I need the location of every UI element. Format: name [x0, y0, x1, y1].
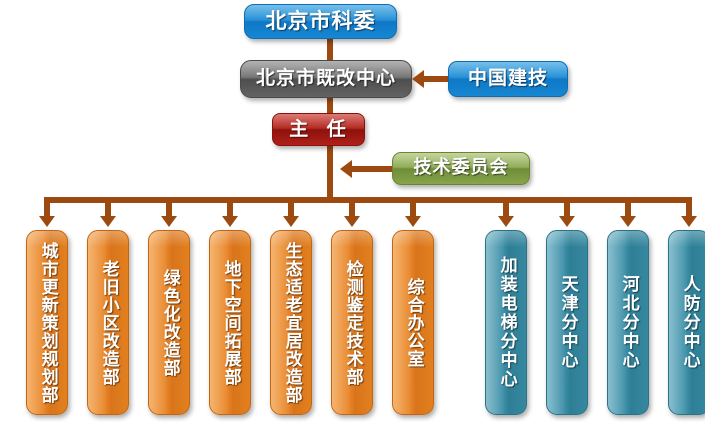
department-node-9[interactable]: 天津分中心 — [546, 230, 588, 415]
department-node-label: 城市更新策划规划部 — [38, 238, 55, 408]
department-node-10[interactable]: 河北分中心 — [607, 230, 649, 415]
department-drop-line-9 — [564, 203, 570, 216]
department-arrow-3 — [161, 216, 177, 227]
department-drop-line-7 — [410, 203, 416, 216]
node-center-organization[interactable]: 北京市既改中心 — [240, 60, 412, 98]
department-arrow-9 — [559, 216, 575, 227]
connector-director-to-bus — [327, 145, 333, 203]
department-drop-line-2 — [105, 203, 111, 216]
department-node-3[interactable]: 绿色化改造部 — [148, 230, 190, 415]
arrow-partner-to-center — [412, 70, 424, 88]
department-arrow-1 — [39, 216, 55, 227]
node-technical-committee[interactable]: 技术委员会 — [392, 152, 530, 185]
connector-committee-to-trunk — [352, 166, 394, 172]
node-director-label: 主 任 — [283, 120, 354, 140]
department-drop-line-11 — [686, 203, 692, 216]
org-chart-canvas: 北京市科委 北京市既改中心 中国建技 主 任 技术委员会 城市更新策划规划部老旧… — [0, 0, 705, 436]
node-top-authority-label: 北京市科委 — [264, 11, 378, 33]
connector-department-bus — [44, 197, 692, 203]
department-drop-line-5 — [288, 203, 294, 216]
department-node-1[interactable]: 城市更新策划规划部 — [26, 230, 68, 415]
department-drop-line-1 — [44, 203, 50, 216]
department-drop-line-6 — [349, 203, 355, 216]
department-arrow-4 — [222, 216, 238, 227]
department-node-4[interactable]: 地下空间拓展部 — [209, 230, 251, 415]
department-node-8[interactable]: 加装电梯分中心 — [485, 230, 527, 415]
department-drop-line-8 — [503, 203, 509, 216]
node-technical-committee-label: 技术委员会 — [412, 159, 511, 178]
department-node-6[interactable]: 检测鉴定技术部 — [331, 230, 373, 415]
department-arrow-8 — [498, 216, 514, 227]
department-arrow-6 — [344, 216, 360, 227]
department-drop-line-4 — [227, 203, 233, 216]
department-node-label: 天津分中心 — [558, 271, 575, 374]
department-drop-line-3 — [166, 203, 172, 216]
connector-partner-to-center — [424, 76, 450, 82]
department-drop-line-10 — [625, 203, 631, 216]
node-partner-organization[interactable]: 中国建技 — [448, 61, 568, 97]
department-arrow-11 — [681, 216, 697, 227]
department-arrow-2 — [100, 216, 116, 227]
connector-top-to-center — [327, 38, 333, 61]
department-node-label: 老旧小区改造部 — [99, 256, 116, 390]
department-node-label: 人防分中心 — [680, 271, 697, 374]
department-node-5[interactable]: 生态适老宜居改造部 — [270, 230, 312, 415]
department-node-label: 绿色化改造部 — [160, 265, 177, 381]
node-partner-organization-label: 中国建技 — [466, 69, 550, 89]
connector-center-to-director — [327, 98, 333, 114]
department-node-label: 生态适老宜居改造部 — [282, 238, 299, 408]
department-node-7[interactable]: 综合办公室 — [392, 230, 434, 415]
department-node-label: 综合办公室 — [404, 274, 421, 372]
node-director[interactable]: 主 任 — [272, 113, 365, 146]
department-node-label: 加装电梯分中心 — [497, 252, 514, 393]
node-center-organization-label: 北京市既改中心 — [254, 69, 398, 89]
department-node-11[interactable]: 人防分中心 — [668, 230, 705, 415]
department-arrow-7 — [405, 216, 421, 227]
department-node-label: 检测鉴定技术部 — [343, 256, 360, 390]
arrow-committee-to-trunk — [340, 160, 352, 178]
department-arrow-5 — [283, 216, 299, 227]
department-arrow-10 — [620, 216, 636, 227]
department-node-label: 地下空间拓展部 — [221, 256, 238, 390]
department-node-label: 河北分中心 — [619, 271, 636, 374]
node-top-authority[interactable]: 北京市科委 — [244, 4, 397, 39]
department-node-2[interactable]: 老旧小区改造部 — [87, 230, 129, 415]
